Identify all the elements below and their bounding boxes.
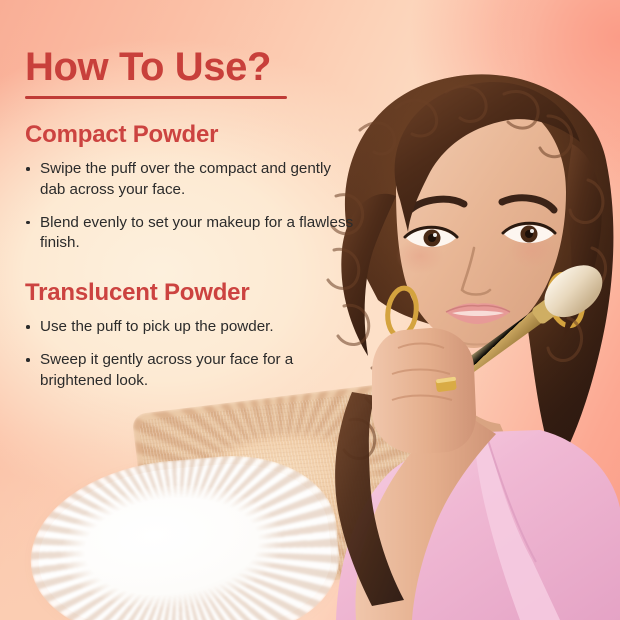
section-translucent-powder: Translucent Powder Use the puff to pick …	[25, 279, 355, 391]
how-to-use-poster: How To Use? Compact Powder Swipe the puf…	[0, 0, 620, 620]
list-item: Swipe the puff over the compact and gent…	[25, 159, 355, 199]
list-item: Blend evenly to set your makeup for a fl…	[25, 213, 355, 253]
page-title: How To Use?	[25, 46, 355, 88]
fist	[372, 328, 476, 454]
section-heading-compact-powder: Compact Powder	[25, 121, 355, 149]
section-compact-powder: Compact Powder Swipe the puff over the c…	[25, 121, 355, 253]
list-item: Sweep it gently across your face for a b…	[25, 350, 355, 390]
list-item: Use the puff to pick up the powder.	[25, 317, 355, 337]
bullet-list-compact-powder: Swipe the puff over the compact and gent…	[25, 159, 355, 253]
bullet-list-translucent-powder: Use the puff to pick up the powder. Swee…	[25, 317, 355, 391]
section-heading-translucent-powder: Translucent Powder	[25, 279, 355, 307]
copy-block: How To Use? Compact Powder Swipe the puf…	[25, 46, 355, 391]
title-underline	[25, 96, 287, 99]
